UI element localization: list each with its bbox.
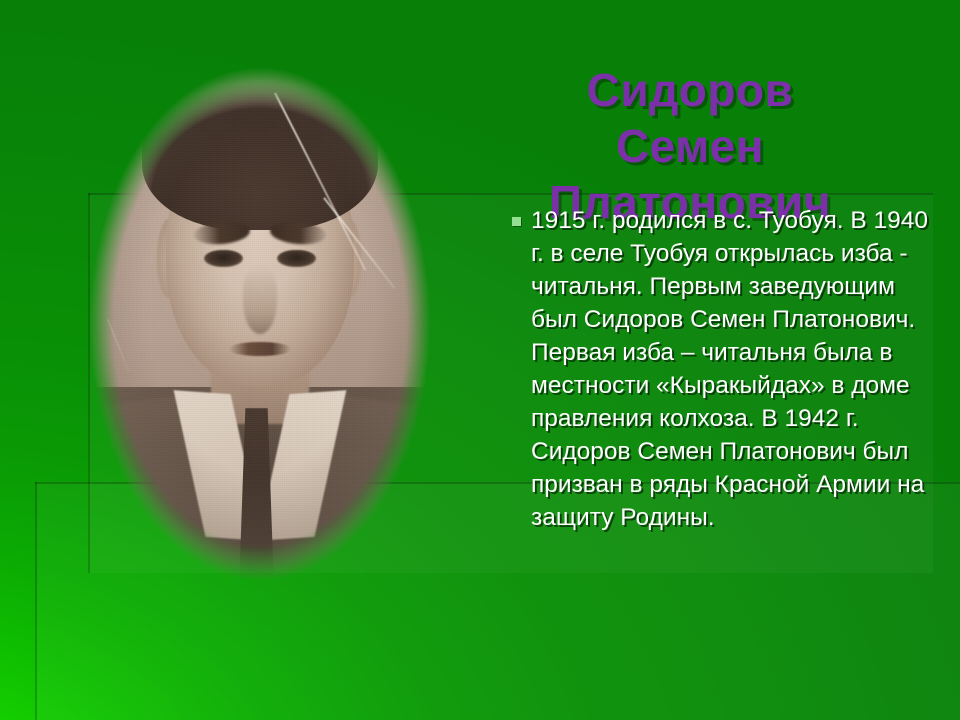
- title-line-2: Семен: [430, 118, 950, 174]
- bullet-item-text: 1915 г. родился в с. Туобуя. В 1940 г. в…: [531, 204, 942, 534]
- presentation-slide: Сидоров Семен Платонович 1915 г. родился…: [0, 0, 960, 720]
- portrait-oval-mask: [86, 62, 434, 586]
- title-line-1: Сидоров: [430, 62, 950, 118]
- content-bullet-list: 1915 г. родился в с. Туобуя. В 1940 г. в…: [512, 204, 942, 534]
- square-bullet-icon: [512, 217, 521, 226]
- photo-vignette: [86, 62, 434, 586]
- portrait-photo: [86, 62, 434, 586]
